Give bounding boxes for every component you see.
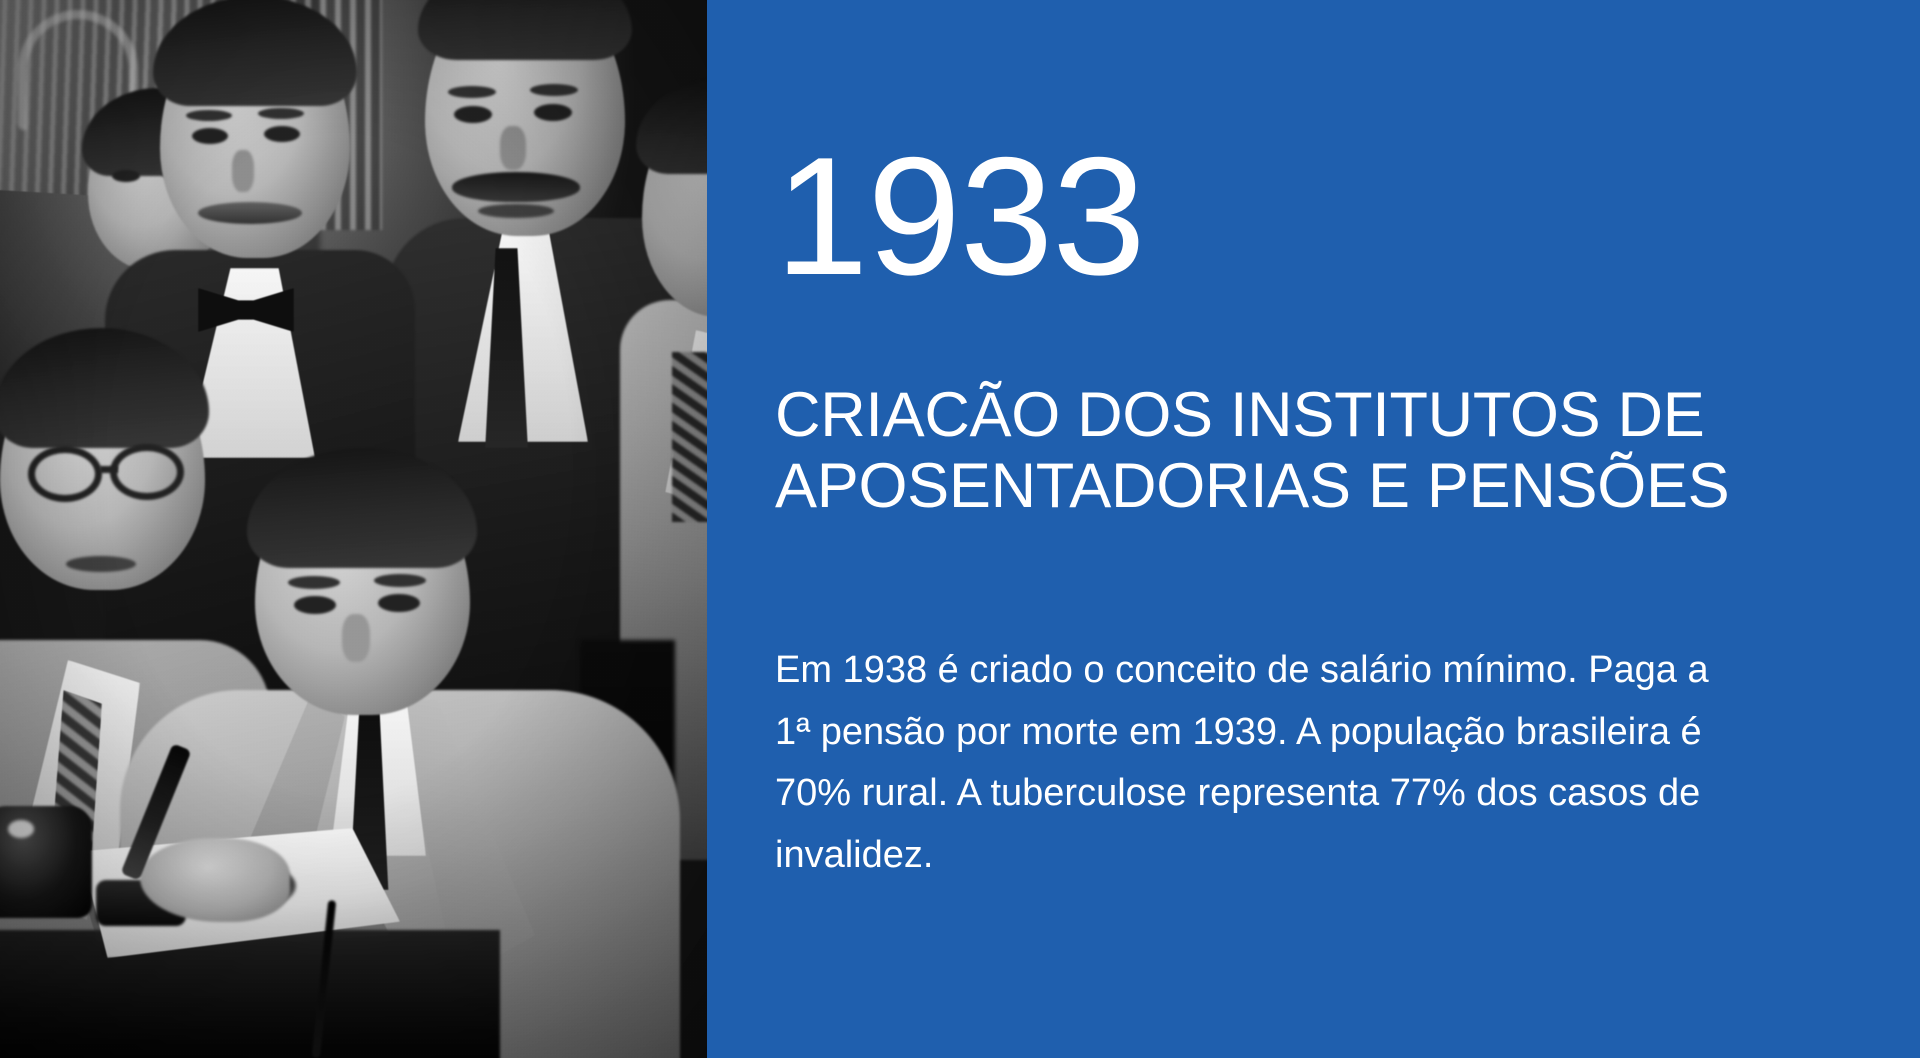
text-block: 1933 CRIACÃO DOS INSTITUTOS DE APOSENTAD… bbox=[775, 0, 1862, 1058]
body-line-2: 1ª pensão por morte em 1939. A população… bbox=[775, 702, 1854, 764]
body-line-4: invalidez. bbox=[775, 825, 1854, 887]
headline: CRIACÃO DOS INSTITUTOS DE APOSENTADORIAS… bbox=[775, 380, 1850, 521]
body-line-1: Em 1938 é criado o conceito de salário m… bbox=[775, 640, 1854, 702]
headline-line-2: APOSENTADORIAS E PENSÕES bbox=[775, 451, 1850, 522]
headline-line-1: CRIACÃO DOS INSTITUTOS DE bbox=[775, 380, 1850, 451]
historical-photograph bbox=[0, 0, 707, 1058]
body-paragraph: Em 1938 é criado o conceito de salário m… bbox=[775, 640, 1854, 886]
body-line-3: 70% rural. A tuberculose representa 77% … bbox=[775, 763, 1854, 825]
year-heading: 1933 bbox=[775, 132, 1145, 300]
blue-content-panel: 1933 CRIACÃO DOS INSTITUTOS DE APOSENTAD… bbox=[707, 0, 1920, 1058]
slide-root: 1933 CRIACÃO DOS INSTITUTOS DE APOSENTAD… bbox=[0, 0, 1920, 1058]
photo-vignette bbox=[0, 0, 707, 1058]
